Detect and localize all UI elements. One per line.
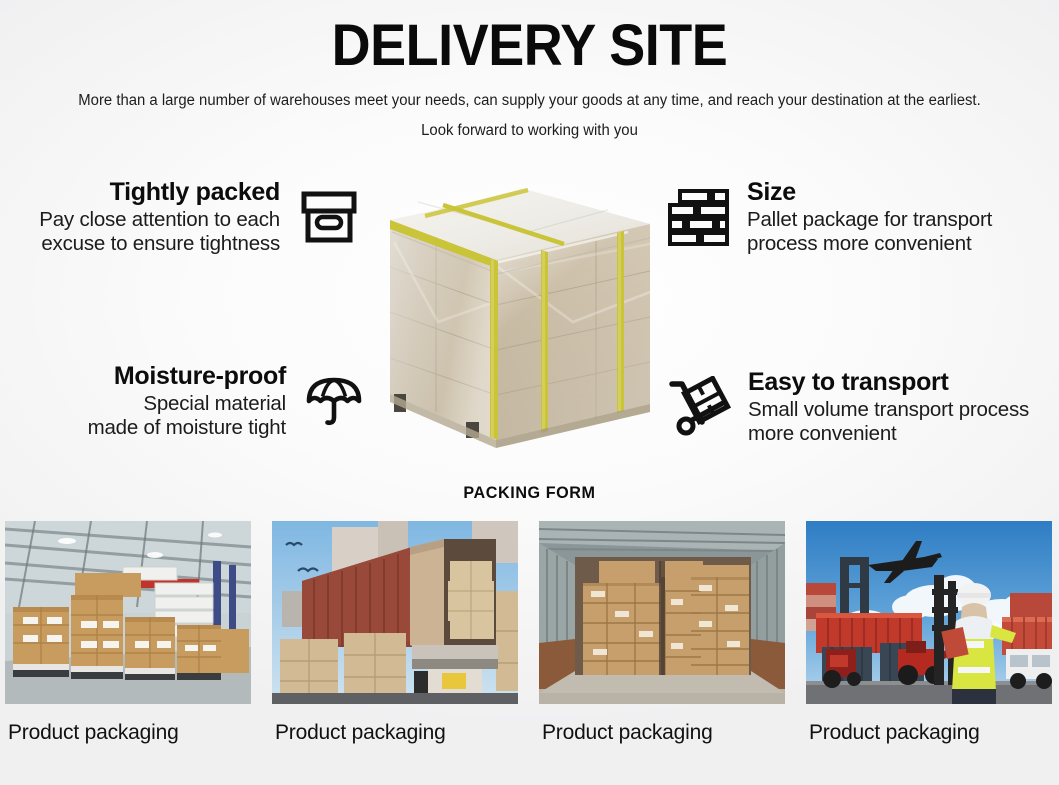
feature-moisture-proof-text: Moisture-proof Special material made of … [24,362,286,440]
packing-form-heading: PACKING FORM [26,483,1032,503]
feature-moisture-proof-title: Moisture-proof [24,362,286,392]
feature-easy-to-transport-desc-2: more convenient [748,422,1029,446]
archive-box-icon [298,186,360,248]
feature-tightly-packed: Tightly packed Pay close attention to ea… [0,178,360,256]
gallery-item[interactable]: Product packaging [272,521,518,745]
page-title: DELIVERY SITE [37,16,1022,75]
feature-easy-to-transport-text: Easy to transport Small volume transport… [748,368,1029,446]
packing-form-gallery: Product packaging [0,521,1059,771]
feature-size-title: Size [747,178,992,208]
brick-wall-icon [668,187,730,247]
gallery-item[interactable]: Product packaging [539,521,785,745]
feature-moisture-proof: Moisture-proof Special material made of … [24,362,364,440]
hand-truck-icon [668,376,734,438]
feature-easy-to-transport-title: Easy to transport [748,368,1029,398]
feature-size-text: Size Pallet package for transport proces… [747,178,992,256]
gallery-item[interactable]: Product packaging [806,521,1052,745]
feature-tightly-packed-text: Tightly packed Pay close attention to ea… [0,178,280,256]
gallery-caption: Product packaging [5,721,251,745]
feature-easy-to-transport-desc-1: Small volume transport process [748,398,1029,422]
feature-tightly-packed-title: Tightly packed [0,178,280,208]
gallery-photo-port-yard[interactable] [806,521,1052,704]
feature-tightly-packed-desc-2: excuse to ensure tightness [0,232,280,256]
feature-moisture-proof-desc-1: Special material [24,392,286,416]
header-subtitle-line-1: More than a large number of warehouses m… [21,92,1038,110]
page-root: DELIVERY SITE More than a large number o… [0,0,1059,785]
gallery-caption: Product packaging [272,721,518,745]
feature-moisture-proof-desc-2: made of moisture tight [24,416,286,440]
gallery-item[interactable]: Product packaging [5,521,251,745]
feature-size-desc-1: Pallet package for transport [747,208,992,232]
feature-size: Size Pallet package for transport proces… [668,178,1059,256]
gallery-photo-warehouse[interactable] [5,521,251,704]
gallery-caption: Product packaging [539,721,785,745]
feature-size-desc-2: process more convenient [747,232,992,256]
gallery-caption: Product packaging [806,721,1052,745]
pallet-product-image [378,172,660,462]
header-subtitle-line-2: Look forward to working with you [21,122,1038,140]
gallery-photo-container-interior[interactable] [539,521,785,704]
umbrella-icon [304,371,364,431]
header: DELIVERY SITE More than a large number o… [0,0,1059,140]
feature-tightly-packed-desc-1: Pay close attention to each [0,208,280,232]
feature-easy-to-transport: Easy to transport Small volume transport… [668,368,1059,446]
gallery-photo-container-loading[interactable] [272,521,518,704]
